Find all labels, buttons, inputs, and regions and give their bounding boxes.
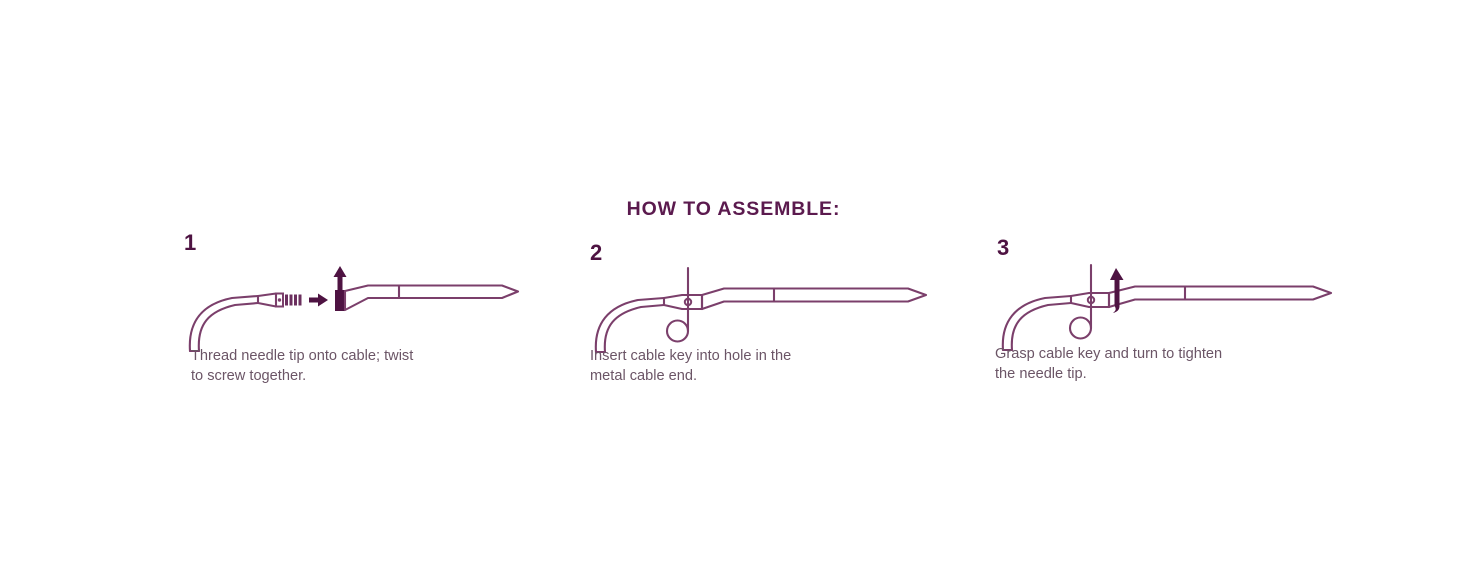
step-caption-1: Thread needle tip onto cable; twist to s… <box>191 346 521 386</box>
assembly-step-1: 1 <box>172 232 572 402</box>
curved-cable-inner <box>605 305 664 352</box>
needle-tip-blade <box>345 286 518 311</box>
assembly-step-2: 2 <box>578 232 978 402</box>
needle-tip-blade <box>1109 287 1331 308</box>
cable-key-ring <box>1070 318 1091 339</box>
metal-cable-end-body <box>258 294 276 307</box>
needle-tip-blade <box>702 289 926 310</box>
step-caption-3: Grasp cable key and turn to tighten the … <box>995 344 1325 384</box>
instruction-sheet: HOW TO ASSEMBLE: 1 <box>0 0 1467 568</box>
threaded-metal-cable-end <box>276 294 302 307</box>
step-number-1: 1 <box>184 232 196 254</box>
cable-key-inserted-figure <box>578 260 978 355</box>
page-title: HOW TO ASSEMBLE: <box>0 198 1467 221</box>
insertion-arrow-icon <box>309 294 328 307</box>
step-caption-2: Insert cable key into hole in the metal … <box>590 346 920 386</box>
curved-cable-inner <box>199 303 258 351</box>
metal-cable-end-body <box>664 295 702 309</box>
cable-key-ring <box>667 321 688 342</box>
curved-cable-inner <box>1012 303 1071 350</box>
turn-cable-key-to-tighten-figure <box>985 256 1385 351</box>
cable-and-needle-separated-figure <box>172 254 572 349</box>
assembly-step-3: 3 <box>985 232 1385 402</box>
